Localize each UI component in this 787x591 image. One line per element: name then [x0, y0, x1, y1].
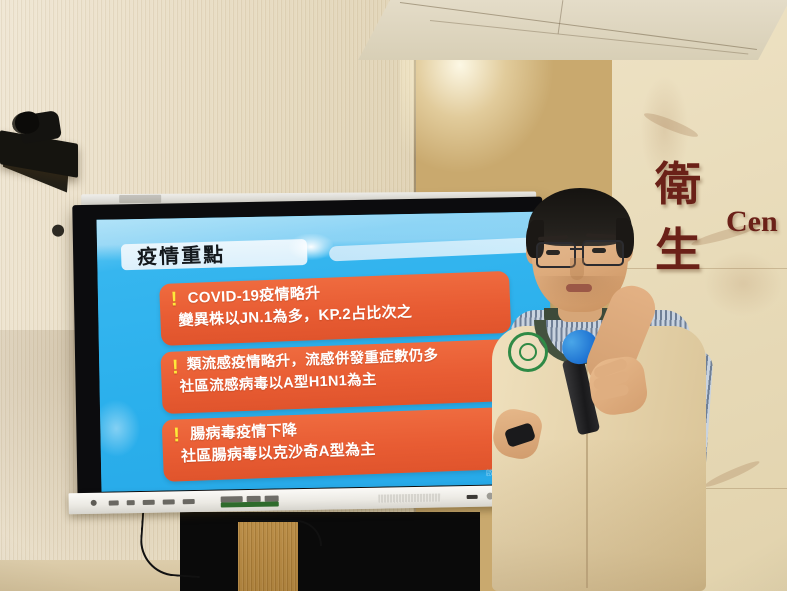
display-stand-cabinet	[180, 512, 480, 591]
bullet-3-line-1: 腸病毒疫情下降	[190, 422, 298, 443]
bullet-1-line-2: 變異株以JN.1為多，KP.2占比次之	[178, 304, 412, 330]
warning-exclamation-icon: !	[172, 356, 179, 378]
vest-organization-logo-icon	[508, 332, 548, 372]
display-green-label-strip	[221, 501, 279, 507]
marble-vein	[642, 110, 700, 141]
display-usb-port[interactable]	[127, 500, 135, 505]
bullet-3-line-2: 社區腸病毒以克沙奇A型為主	[181, 441, 376, 465]
eyeglasses-lens-right	[582, 240, 624, 266]
eyeglasses-bridge	[570, 248, 584, 250]
warning-exclamation-icon: !	[170, 288, 177, 310]
vest-logo-inner-ring	[519, 343, 537, 361]
display-brand-plate	[119, 195, 161, 203]
display-port-round[interactable]	[91, 500, 97, 506]
bullet-2-line-1: 類流感疫情略升，流感併發重症數仍多	[187, 348, 439, 374]
screen-glare-secondary	[97, 399, 141, 458]
wall-sign-latin: Cen	[726, 205, 778, 239]
display-vga-port[interactable]	[183, 499, 195, 504]
warning-exclamation-icon: !	[173, 424, 180, 446]
bullet-2-line-2: 社區流感病毒以A型H1N1為主	[179, 372, 377, 396]
screenshot-scene: 衛生 Cen 疫情重點	[0, 0, 787, 591]
display-speaker-grille	[379, 494, 441, 503]
slide-title: 疫情重點	[137, 241, 308, 270]
person-mouth	[566, 284, 592, 292]
display-usb-port[interactable]	[109, 500, 119, 505]
person-vest-shading	[492, 440, 706, 591]
display-hdmi-port[interactable]	[163, 499, 175, 504]
slide-bullet-box-3: ! 腸病毒疫情下降 社區腸病毒以克沙奇A型為主	[162, 407, 514, 482]
person-nose	[570, 258, 584, 280]
slide-bullet-box-1: ! COVID-19疫情略升 變異株以JN.1為多，KP.2占比次之	[159, 271, 511, 346]
display-hdmi-port[interactable]	[143, 500, 155, 505]
speaker-person	[470, 180, 730, 591]
bullet-1-line-1: COVID-19疫情略升	[187, 285, 320, 307]
